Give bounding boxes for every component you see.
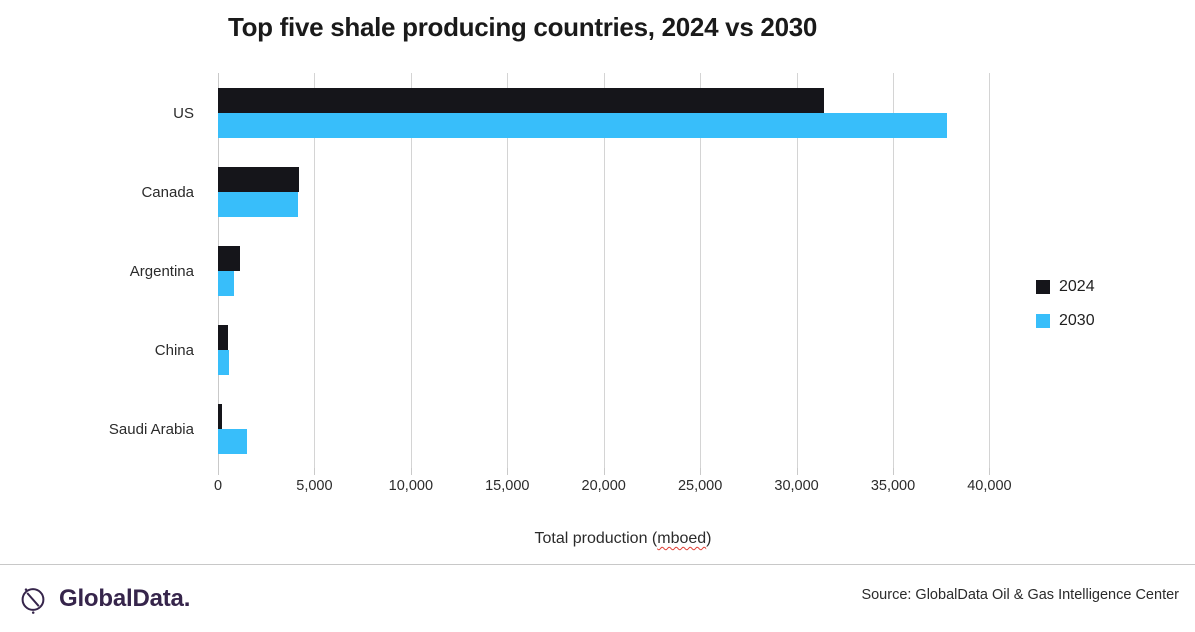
x-axis-tick-mark xyxy=(507,468,508,475)
footer: GlobalData. Source: GlobalData Oil & Gas… xyxy=(0,565,1195,632)
legend-label: 2030 xyxy=(1059,312,1095,330)
legend-label: 2024 xyxy=(1059,278,1095,296)
bar-group xyxy=(218,404,1028,454)
x-axis-tick-mark xyxy=(700,468,701,475)
legend-swatch-icon xyxy=(1036,314,1050,328)
x-axis-tick-mark xyxy=(797,468,798,475)
bars-layer xyxy=(218,73,1028,468)
brand-name: GlobalData. xyxy=(59,585,190,613)
y-axis-label-argentina: Argentina xyxy=(4,264,194,279)
plot-area xyxy=(218,73,1028,468)
bar-2024-china xyxy=(218,325,228,350)
x-axis-tick-mark xyxy=(893,468,894,475)
x-axis-title: Total production (mboed) xyxy=(218,530,1028,548)
x-axis-tick-label: 40,000 xyxy=(967,478,1011,494)
legend-swatch-icon xyxy=(1036,280,1050,294)
x-axis-tick-labels: 05,00010,00015,00020,00025,00030,00035,0… xyxy=(218,478,1028,502)
bar-2024-us xyxy=(218,88,824,113)
bar-group xyxy=(218,88,1028,138)
bar-group xyxy=(218,325,1028,375)
x-axis-tick-label: 5,000 xyxy=(296,478,332,494)
x-axis-tick-label: 35,000 xyxy=(871,478,915,494)
y-axis-category-labels: USCanadaArgentinaChinaSaudi Arabia xyxy=(0,73,208,468)
bar-group xyxy=(218,246,1028,296)
bar-2030-argentina xyxy=(218,271,234,296)
bar-2030-china xyxy=(218,350,229,375)
x-axis-tick-label: 30,000 xyxy=(774,478,818,494)
x-axis-tick-label: 15,000 xyxy=(485,478,529,494)
legend-item-2024[interactable]: 2024 xyxy=(1036,270,1176,304)
y-axis-label-us: US xyxy=(4,106,194,121)
bar-group xyxy=(218,167,1028,217)
x-axis-tick-mark xyxy=(989,468,990,475)
x-axis-tick-mark xyxy=(604,468,605,475)
chart-page: Top five shale producing countries, 2024… xyxy=(0,0,1195,632)
bar-2030-saudi-arabia xyxy=(218,429,247,454)
globaldata-logo-icon xyxy=(16,582,50,616)
bar-2024-canada xyxy=(218,167,299,192)
x-axis-unit-misspelled: mboed xyxy=(657,530,706,547)
y-axis-label-canada: Canada xyxy=(4,185,194,200)
bar-2030-canada xyxy=(218,192,298,217)
x-axis-tick-label: 0 xyxy=(214,478,222,494)
x-axis-tick-mark xyxy=(218,468,219,475)
y-axis-label-china: China xyxy=(4,343,194,358)
x-axis-tick-label: 25,000 xyxy=(678,478,722,494)
brand-logo: GlobalData. xyxy=(16,582,190,616)
chart-legend: 20242030 xyxy=(1036,270,1176,338)
y-axis-label-saudi-arabia: Saudi Arabia xyxy=(4,422,194,437)
x-axis-tick-mark xyxy=(314,468,315,475)
legend-item-2030[interactable]: 2030 xyxy=(1036,304,1176,338)
x-axis-tick-label: 20,000 xyxy=(582,478,626,494)
bar-2024-saudi-arabia xyxy=(218,404,222,429)
source-note: Source: GlobalData Oil & Gas Intelligenc… xyxy=(861,587,1179,603)
page-title: Top five shale producing countries, 2024… xyxy=(0,12,1045,43)
bar-2030-us xyxy=(218,113,947,138)
x-axis-tick-mark xyxy=(411,468,412,475)
bar-2024-argentina xyxy=(218,246,240,271)
x-axis-tick-label: 10,000 xyxy=(389,478,433,494)
